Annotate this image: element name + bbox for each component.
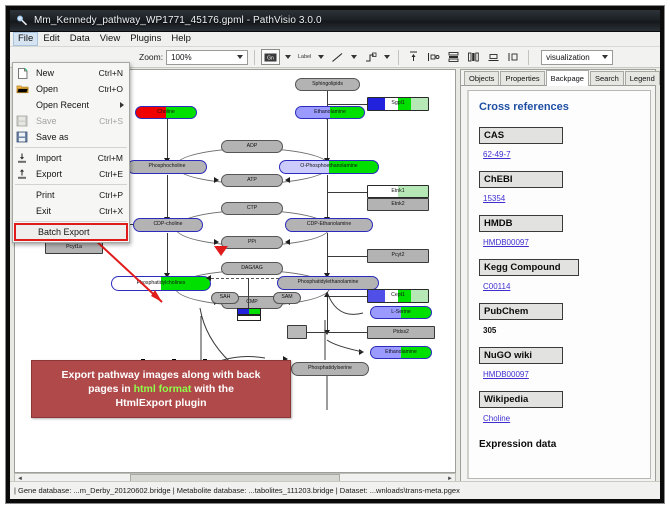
node-phosphatidylcholines[interactable]: Phosphatidylcholines [111,276,211,291]
file-menu-open-recent[interactable]: Open Recent [13,97,129,113]
node-phosphatidylethanolamine[interactable]: Phosphatidylethanolamine [277,276,379,290]
xref-value-wikipedia[interactable]: Choline [483,414,510,423]
node-ethanolamine-2[interactable]: Ethanolamine [370,346,432,359]
node-sam[interactable]: SAM [273,292,301,304]
gene-etnk1[interactable]: Etnk1 [367,185,429,198]
gene-pemt-chip-2[interactable] [237,315,261,321]
annotation-line1: Export pathway images along with back [62,369,261,381]
edge-ophospho-cdpetn [327,175,328,219]
gene-pemt-chip[interactable] [237,308,261,315]
node-cdp-ethanolamine[interactable]: CDP-Ethanolamine [285,218,373,232]
file-menu-export-label: Export [36,169,99,179]
node-l-serine[interactable]: L-Serine [370,306,432,319]
blank-icon [16,99,32,112]
folder-open-icon [16,83,32,96]
menu-plugins[interactable]: Plugins [125,32,166,46]
menubar: File Edit Data View Plugins Help [10,32,660,47]
xref-value-nugo[interactable]: HMDB00097 [483,370,529,379]
window-titlebar: Mm_Kennedy_pathway_WP1771_45176.gpml - P… [10,10,660,32]
node-ppi[interactable]: PPi [221,236,283,249]
blank-icon-2 [16,189,32,202]
node-ctp[interactable]: CTP [221,202,283,215]
file-menu-open-recent-label: Open Recent [36,100,120,110]
file-menu-save: Save Ctrl+S [13,113,129,129]
gene-pcyt2[interactable]: Pcyt2 [367,249,429,263]
sidebar-tabstrip: Objects Properties Backpage Search Legen… [461,70,655,86]
application-window: Mm_Kennedy_pathway_WP1771_45176.gpml - P… [6,6,664,503]
file-menu-save-accel: Ctrl+S [99,116,129,126]
menu-file[interactable]: File [13,32,38,46]
label-dropdown-icon[interactable] [318,55,324,59]
edge-choline-phosphocholine [167,118,168,160]
backpage-title: Cross references [479,101,640,113]
toolbar-separator-2 [398,50,399,65]
edge-phosphocholine-cdpcholine [167,175,168,219]
file-menu-open[interactable]: Open Ctrl+O [13,81,129,97]
annotation-line3: HtmlExport plugin [116,397,207,409]
save-icon [16,115,32,128]
zoom-combo[interactable]: 100% [166,50,248,65]
save-as-icon [16,131,32,144]
import-icon [16,152,32,165]
xref-value-hmdb[interactable]: HMDB00097 [483,238,529,247]
node-phosphocholine[interactable]: Phosphocholine [127,160,207,174]
zoom-value: 100% [171,53,233,62]
file-menu-print[interactable]: Print Ctrl+P [13,187,129,203]
tab-legend[interactable]: Legend [625,71,660,85]
pathvisio-app-icon [16,14,29,27]
blank-icon-4 [18,226,34,239]
zoom-label: Zoom: [139,52,163,62]
file-menu-save-as[interactable]: Save as [13,129,129,145]
menu-help[interactable]: Help [166,32,196,46]
line-dropdown-icon[interactable] [351,55,357,59]
interaction-tool-button[interactable] [362,49,379,65]
toolbar-separator [254,50,255,65]
file-menu-batch-export[interactable]: Batch Export [15,224,127,240]
file-menu-import[interactable]: Import Ctrl+M [13,150,129,166]
edge-sah-sam-stem [248,278,249,308]
node-adp[interactable]: ADP [221,140,283,153]
file-menu-print-label: Print [36,190,99,200]
file-menu-separator-2 [15,184,127,185]
xref-label-cas: CAS [479,127,563,144]
xref-value-chebi[interactable]: 15354 [483,194,505,203]
node-o-phosphoethanolamine[interactable]: O-Phosphoethanolamine [279,160,379,174]
gene-cept1[interactable]: Cept1 [367,289,429,303]
annotation-line2a: pages in [88,383,134,395]
edge-ethanolamine-ophospho [327,118,328,160]
arrowhead-right-ethanolamine [359,349,364,355]
file-menu-open-accel: Ctrl+O [98,84,129,94]
xref-label-hmdb: HMDB [479,215,563,232]
edge-ptdetn-ptdserine [327,292,328,332]
edge-cept1-link [327,296,367,297]
node-cdp-choline[interactable]: CDP-choline [133,218,203,232]
edge-ptdss2-link [305,332,367,333]
gene-etnk2[interactable]: Etnk2 [367,198,429,211]
file-menu-dropdown[interactable]: New Ctrl+N Open Ctrl+O Open Recent Save [12,62,130,243]
file-menu-export[interactable]: Export Ctrl+E [13,166,129,182]
same-width-button[interactable] [485,49,502,65]
xref-label-wikipedia: Wikipedia [479,391,563,408]
file-menu-new[interactable]: New Ctrl+N [13,65,129,81]
edge-cdpetn-ptdetn [327,233,328,275]
file-menu-new-label: New [36,68,99,78]
node-sphingolipids[interactable]: Sphingolipids [295,78,360,91]
node-choline[interactable]: Choline [135,106,197,119]
file-menu-exit[interactable]: Exit Ctrl+X [13,203,129,219]
visualization-combo[interactable]: visualization [541,50,613,65]
align-top-button[interactable] [405,49,422,65]
file-menu-save-as-label: Save as [36,132,123,142]
gene-sgpl1[interactable]: Sgpl1 [367,97,429,111]
tab-objects[interactable]: Objects [464,71,499,85]
stack-vertical-button[interactable] [445,49,462,65]
blank-icon-3 [16,205,32,218]
annotation-line2c: with the [191,383,234,395]
chevron-down-icon [237,55,243,59]
tab-backpage[interactable]: Backpage [546,70,589,86]
align-left-button[interactable] [425,49,442,65]
label-tool-button[interactable]: Label [296,49,313,65]
file-menu-save-label: Save [36,116,99,126]
file-menu-open-label: Open [36,84,98,94]
anchor-node[interactable] [287,325,307,339]
line-tool-button[interactable] [329,49,346,65]
menu-view[interactable]: View [95,32,125,46]
file-menu-batch-export-label: Batch Export [38,227,127,237]
status-bar-text: | Gene database: ...m_Derby_20120602.bri… [14,486,460,495]
edge-cdpcholine-ptdcholine [167,233,168,275]
datanode-tool-button[interactable]: Gn [261,49,280,65]
sidebar-panel: Objects Properties Backpage Search Legen… [460,69,656,484]
node-sah[interactable]: SAH [211,292,239,304]
annotation-line2-highlight: html format [134,383,192,395]
edge-pemt-dashed [211,278,279,279]
screenshot-root: Mm_Kennedy_pathway_WP1771_45176.gpml - P… [0,0,670,509]
toolbar-separator-3 [528,50,529,65]
edge-pcyt2-link [327,256,367,257]
xref-value-cas[interactable]: 62-49-7 [483,150,511,159]
node-phosphatidylserine[interactable]: Phosphatidylserine [291,362,369,376]
new-file-icon [16,67,32,80]
edge-sgpl1-link [327,104,367,105]
datanode-dropdown-icon[interactable] [285,55,291,59]
arrowhead-left-ppi [285,239,290,245]
window-title: Mm_Kennedy_pathway_WP1771_45176.gpml - P… [34,15,322,26]
gene-ptdss2[interactable]: Ptdss2 [367,326,435,339]
chevron-down-icon-2 [602,55,608,59]
xref-value-kegg[interactable]: C00114 [483,282,510,291]
interaction-dropdown-icon[interactable] [384,55,390,59]
expression-data-heading: Expression data [479,439,640,450]
file-menu-exit-accel: Ctrl+X [99,206,129,216]
xref-label-pubchem: PubChem [479,303,563,320]
visualization-value: visualization [546,53,598,62]
annotation-callout: Export pathway images along with back pa… [31,360,291,418]
arrowhead-right-atp [214,177,219,183]
status-bar: | Gene database: ...m_Derby_20120602.bri… [10,481,660,499]
file-menu-separator-1 [15,147,127,148]
file-menu-exit-label: Exit [36,206,99,216]
xref-label-chebi: ChEBI [479,171,563,188]
file-menu-import-accel: Ctrl+M [98,153,129,163]
xref-label-nugo: NuGO wiki [479,347,563,364]
menu-edit[interactable]: Edit [38,32,64,46]
arrowhead-left-pemt [206,275,211,281]
arrowhead-right-ppi [214,239,219,245]
arrowhead-left-atp [285,177,290,183]
svg-text:Gn: Gn [267,55,274,61]
node-ethanolamine[interactable]: Ethanolamine [295,106,365,119]
file-menu-export-accel: Ctrl+E [99,169,129,179]
submenu-arrow-icon [120,102,124,108]
file-menu-separator-3 [15,221,127,222]
stack-horizontal-button[interactable] [465,49,482,65]
menu-data[interactable]: Data [65,32,95,46]
xref-value-pubchem: 305 [483,326,496,335]
file-menu-new-accel: Ctrl+N [99,68,129,78]
xref-label-kegg: Kegg Compound [479,259,579,276]
export-icon [16,168,32,181]
node-dag-iag[interactable]: DAG/IAG [221,262,283,275]
same-height-button[interactable] [505,49,522,65]
tab-properties[interactable]: Properties [500,71,544,85]
backpage-content: Cross references CAS 62-49-7 ChEBI 15354… [467,90,651,479]
file-menu-print-accel: Ctrl+P [99,190,129,200]
tab-search[interactable]: Search [590,71,624,85]
file-menu-import-label: Import [36,153,98,163]
arrowhead-up-ptdetn [324,292,330,297]
edge-etnk-link [327,192,367,193]
node-atp[interactable]: ATP [221,174,283,187]
